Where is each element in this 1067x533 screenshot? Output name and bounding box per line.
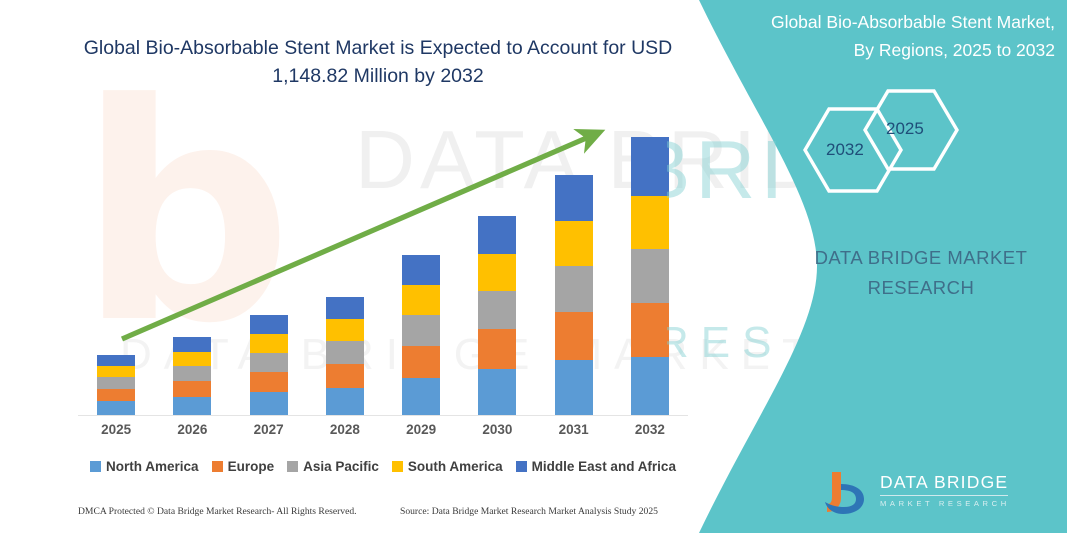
segment-south-america-2032 <box>631 196 669 249</box>
segment-asia-pacific-2027 <box>250 353 288 372</box>
legend-swatch-icon <box>516 461 527 472</box>
legend-label: Middle East and Africa <box>532 459 676 474</box>
segment-europe-2025 <box>97 389 135 401</box>
bar-2025 <box>97 355 135 415</box>
legend-swatch-icon <box>287 461 298 472</box>
hex-label-2025: 2025 <box>886 119 924 139</box>
plot-area <box>78 100 688 415</box>
company-logo: DATA BRIDGE MARKET RESEARCH <box>822 468 1052 520</box>
logo-mark-icon <box>822 468 874 518</box>
segment-south-america-2031 <box>555 221 593 266</box>
legend-label: South America <box>408 459 503 474</box>
x-tick-2029: 2029 <box>386 422 456 437</box>
segment-europe-2026 <box>173 381 211 397</box>
bar-2027 <box>250 315 288 415</box>
chart-title: Global Bio-Absorbable Stent Market is Ex… <box>78 34 678 90</box>
legend-swatch-icon <box>212 461 223 472</box>
bar-2029 <box>402 255 440 415</box>
legend-label: Europe <box>228 459 275 474</box>
bar-2032 <box>631 137 669 415</box>
segment-asia-pacific-2026 <box>173 366 211 381</box>
bar-2030 <box>478 216 516 415</box>
segment-middle-east-and-africa-2027 <box>250 315 288 334</box>
segment-north-america-2028 <box>326 388 364 415</box>
x-tick-2027: 2027 <box>234 422 304 437</box>
hex-label-2032: 2032 <box>826 140 864 160</box>
legend-item-europe[interactable]: Europe <box>212 459 275 474</box>
segment-europe-2028 <box>326 364 364 388</box>
legend-label: Asia Pacific <box>303 459 379 474</box>
legend-item-asia-pacific[interactable]: Asia Pacific <box>287 459 379 474</box>
segment-north-america-2027 <box>250 392 288 415</box>
segment-south-america-2027 <box>250 334 288 353</box>
x-tick-2031: 2031 <box>539 422 609 437</box>
stacked-bar-chart <box>78 100 688 420</box>
segment-south-america-2028 <box>326 319 364 341</box>
panel-brand-line1: DATA BRIDGE MARKET <box>815 247 1028 268</box>
segment-asia-pacific-2029 <box>402 315 440 346</box>
logo-divider <box>880 495 1008 496</box>
segment-europe-2031 <box>555 312 593 360</box>
footer: DMCA Protected © Data Bridge Market Rese… <box>78 506 690 524</box>
panel-title-line2: By Regions, 2025 to 2032 <box>854 40 1055 60</box>
brand-panel: BRI RES Global Bio-Absorbable Stent Mark… <box>667 0 1067 533</box>
panel-title-line1: Global Bio-Absorbable Stent Market, <box>771 12 1055 32</box>
chart-legend: North AmericaEuropeAsia PacificSouth Ame… <box>78 455 688 477</box>
segment-asia-pacific-2032 <box>631 249 669 303</box>
segment-middle-east-and-africa-2029 <box>402 255 440 285</box>
logo-tagline: MARKET RESEARCH <box>880 499 1010 508</box>
segment-middle-east-and-africa-2026 <box>173 337 211 352</box>
bar-2028 <box>326 297 364 415</box>
segment-europe-2027 <box>250 372 288 392</box>
panel-watermark-bri: BRI <box>667 122 788 218</box>
segment-north-america-2026 <box>173 397 211 415</box>
x-tick-2028: 2028 <box>310 422 380 437</box>
panel-title: Global Bio-Absorbable Stent Market, By R… <box>697 8 1055 64</box>
segment-south-america-2025 <box>97 366 135 377</box>
segment-europe-2029 <box>402 346 440 378</box>
legend-item-middle-east-and-africa[interactable]: Middle East and Africa <box>516 459 676 474</box>
segment-north-america-2025 <box>97 401 135 415</box>
legend-item-north-america[interactable]: North America <box>90 459 199 474</box>
legend-item-south-america[interactable]: South America <box>392 459 503 474</box>
segment-south-america-2030 <box>478 254 516 291</box>
segment-middle-east-and-africa-2028 <box>326 297 364 319</box>
segment-asia-pacific-2028 <box>326 341 364 364</box>
hexagon-badges: 2032 2025 <box>787 88 987 208</box>
x-tick-2026: 2026 <box>157 422 227 437</box>
segment-north-america-2030 <box>478 369 516 415</box>
hexagon-outline-icon <box>787 88 987 208</box>
segment-north-america-2029 <box>402 378 440 415</box>
segment-north-america-2031 <box>555 360 593 415</box>
panel-brand-text: DATA BRIDGE MARKET RESEARCH <box>775 243 1067 303</box>
footer-copyright: DMCA Protected © Data Bridge Market Rese… <box>78 506 357 517</box>
segment-north-america-2032 <box>631 357 669 415</box>
x-axis: 20252026202720282029203020312032 <box>78 422 688 444</box>
x-tick-2025: 2025 <box>81 422 151 437</box>
segment-asia-pacific-2025 <box>97 377 135 389</box>
legend-swatch-icon <box>392 461 403 472</box>
footer-source: Source: Data Bridge Market Research Mark… <box>400 506 658 517</box>
infographic-root: b DATA BRIDGE DATA BRIDGE MARKET RESEARC… <box>0 0 1067 533</box>
panel-brand-line2: RESEARCH <box>868 277 975 298</box>
legend-swatch-icon <box>90 461 101 472</box>
segment-middle-east-and-africa-2025 <box>97 355 135 366</box>
bar-2031 <box>555 175 593 415</box>
segment-middle-east-and-africa-2032 <box>631 137 669 196</box>
panel-watermark-res: RES <box>667 318 783 368</box>
segment-asia-pacific-2030 <box>478 291 516 329</box>
legend-label: North America <box>106 459 199 474</box>
segment-asia-pacific-2031 <box>555 266 593 312</box>
x-tick-2030: 2030 <box>462 422 532 437</box>
segment-middle-east-and-africa-2031 <box>555 175 593 221</box>
axis-baseline <box>78 415 688 416</box>
logo-name: DATA BRIDGE <box>880 472 1010 493</box>
segment-south-america-2029 <box>402 285 440 315</box>
bar-2026 <box>173 337 211 415</box>
logo-text: DATA BRIDGE MARKET RESEARCH <box>880 472 1010 508</box>
segment-europe-2032 <box>631 303 669 357</box>
segment-middle-east-and-africa-2030 <box>478 216 516 254</box>
segment-south-america-2026 <box>173 352 211 366</box>
segment-europe-2030 <box>478 329 516 369</box>
